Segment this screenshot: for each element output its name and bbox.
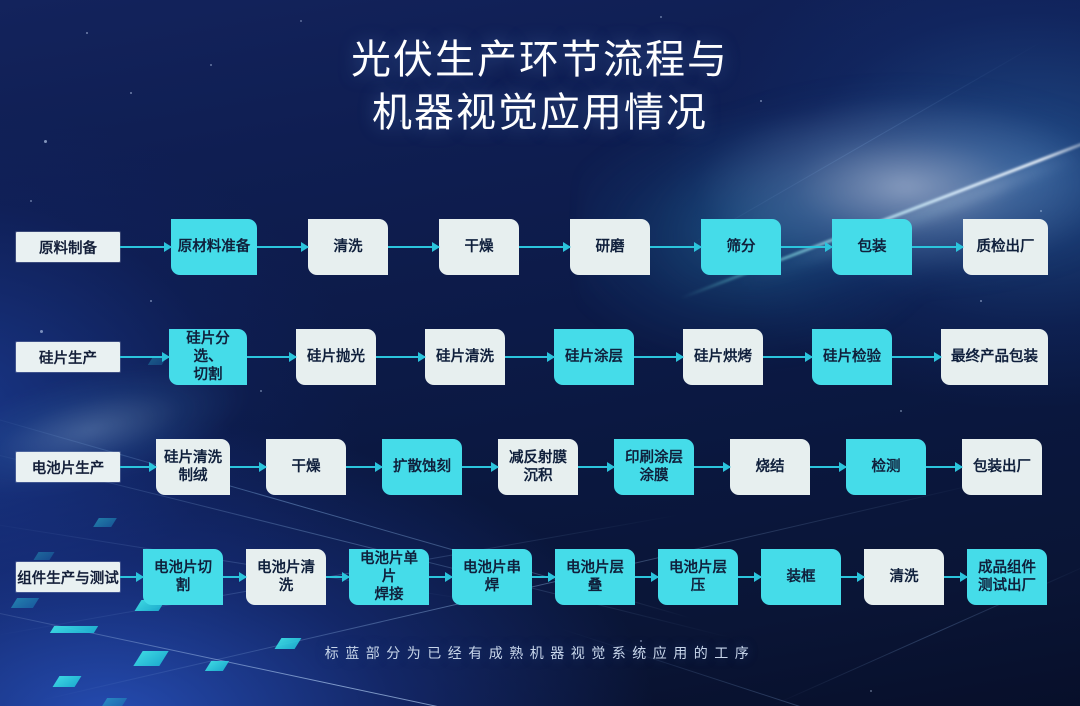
process-node[interactable]: 清洗 [864, 549, 944, 605]
process-node-highlighted[interactable]: 原材料准备 [171, 219, 257, 275]
arrow-head-icon [723, 462, 731, 472]
title-line-1: 光伏生产环节流程与 [0, 34, 1080, 87]
arrow-head-icon [301, 242, 309, 252]
flow-row: 电池片生产硅片清洗 制绒干燥扩散蚀刻减反射膜 沉积印刷涂层 涂膜烧结检测包装出厂 [16, 432, 1042, 502]
arrow-head-icon [607, 462, 615, 472]
arrow-head-icon [491, 462, 499, 472]
arrow-head-icon [857, 572, 865, 582]
page-title: 光伏生产环节流程与 机器视觉应用情况 [0, 34, 1080, 140]
process-node-highlighted[interactable]: 扩散蚀刻 [382, 439, 462, 495]
stage-label[interactable]: 硅片生产 [16, 342, 120, 372]
arrow-head-icon [548, 572, 556, 582]
arrow-head-icon [955, 462, 963, 472]
arrow-head-icon [676, 352, 684, 362]
flow-arrow [230, 462, 266, 472]
arrow-head-icon [418, 352, 426, 362]
process-node-highlighted[interactable]: 电池片层压 [658, 549, 738, 605]
flow-arrow [892, 352, 941, 362]
arrow-head-icon [259, 462, 267, 472]
flow-arrow [519, 242, 570, 252]
arrow-head-icon [164, 242, 172, 252]
flow-arrow [912, 242, 963, 252]
flow-arrow [532, 572, 555, 582]
arrow-head-icon [825, 242, 833, 252]
process-node[interactable]: 清洗 [308, 219, 388, 275]
flow-arrow [223, 572, 246, 582]
flow-arrow [505, 352, 554, 362]
arrow-head-icon [149, 462, 157, 472]
flow-arrow [635, 572, 658, 582]
arrow-head-icon [239, 572, 247, 582]
process-node[interactable]: 硅片清洗 [425, 329, 505, 385]
process-node[interactable]: 质检出厂 [963, 219, 1048, 275]
flow-arrow [247, 352, 296, 362]
flow-arrow [781, 242, 832, 252]
flow-arrow [763, 352, 812, 362]
process-node-highlighted[interactable]: 检测 [846, 439, 926, 495]
process-node[interactable]: 烧结 [730, 439, 810, 495]
process-node-highlighted[interactable]: 硅片检验 [812, 329, 892, 385]
process-node[interactable]: 研磨 [570, 219, 650, 275]
process-node-highlighted[interactable]: 成品组件 测试出厂 [967, 549, 1047, 605]
flow-arrow [120, 242, 171, 252]
process-node[interactable]: 硅片清洗 制绒 [156, 439, 230, 495]
flow-arrow [388, 242, 439, 252]
process-node-highlighted[interactable]: 电池片单片 焊接 [349, 549, 429, 605]
process-node[interactable]: 干燥 [266, 439, 346, 495]
process-node[interactable]: 电池片清洗 [246, 549, 326, 605]
flow-arrow [738, 572, 761, 582]
process-node[interactable]: 硅片抛光 [296, 329, 376, 385]
flow-row: 组件生产与测试电池片切割电池片清洗电池片单片 焊接电池片串焊电池片层叠电池片层压… [16, 542, 1047, 612]
flow-arrow [810, 462, 846, 472]
flow-arrow [462, 462, 498, 472]
process-node-highlighted[interactable]: 电池片层叠 [555, 549, 635, 605]
flow-arrow [694, 462, 730, 472]
process-node[interactable]: 硅片烘烤 [683, 329, 763, 385]
stage-label[interactable]: 原料制备 [16, 232, 120, 262]
flow-arrow [578, 462, 614, 472]
arrow-head-icon [805, 352, 813, 362]
flow-arrow [257, 242, 308, 252]
process-node-highlighted[interactable]: 硅片分选、 切割 [169, 329, 247, 385]
arrow-head-icon [547, 352, 555, 362]
arrow-head-icon [754, 572, 762, 582]
legend-note: 标蓝部分为已经有成熟机器视觉系统应用的工序 [0, 643, 1080, 663]
slide-canvas: 光伏生产环节流程与 机器视觉应用情况 原料制备原材料准备清洗干燥研磨筛分包装质检… [0, 0, 1080, 706]
process-node[interactable]: 最终产品包装 [941, 329, 1048, 385]
flow-arrow [120, 352, 169, 362]
title-line-2: 机器视觉应用情况 [0, 87, 1080, 140]
flow-row: 硅片生产硅片分选、 切割硅片抛光硅片清洗硅片涂层硅片烘烤硅片检验最终产品包装 [16, 322, 1048, 392]
process-node[interactable]: 减反射膜 沉积 [498, 439, 578, 495]
arrow-head-icon [342, 572, 350, 582]
arrow-head-icon [375, 462, 383, 472]
flow-arrow [634, 352, 683, 362]
flow-arrow [926, 462, 962, 472]
arrow-head-icon [432, 242, 440, 252]
flow-arrow [841, 572, 864, 582]
process-node-highlighted[interactable]: 包装 [832, 219, 912, 275]
process-node-highlighted[interactable]: 筛分 [701, 219, 781, 275]
process-node[interactable]: 包装出厂 [962, 439, 1042, 495]
flow-arrow [429, 572, 452, 582]
arrow-head-icon [960, 572, 968, 582]
arrow-head-icon [956, 242, 964, 252]
flow-arrow [376, 352, 425, 362]
flow-arrow [944, 572, 967, 582]
flow-arrow [326, 572, 349, 582]
process-node-highlighted[interactable]: 印刷涂层 涂膜 [614, 439, 694, 495]
arrow-head-icon [694, 242, 702, 252]
arrow-head-icon [445, 572, 453, 582]
arrow-head-icon [934, 352, 942, 362]
arrow-head-icon [839, 462, 847, 472]
flow-arrow [346, 462, 382, 472]
flow-row: 原料制备原材料准备清洗干燥研磨筛分包装质检出厂 [16, 212, 1048, 282]
process-node-highlighted[interactable]: 硅片涂层 [554, 329, 634, 385]
process-node-highlighted[interactable]: 电池片串焊 [452, 549, 532, 605]
stage-label[interactable]: 电池片生产 [16, 452, 120, 482]
process-node[interactable]: 干燥 [439, 219, 519, 275]
process-node-highlighted[interactable]: 装框 [761, 549, 841, 605]
arrow-head-icon [289, 352, 297, 362]
flow-arrow [120, 462, 156, 472]
arrow-head-icon [136, 572, 144, 582]
arrow-head-icon [563, 242, 571, 252]
arrow-head-icon [651, 572, 659, 582]
flow-arrow [120, 572, 143, 582]
arrow-head-icon [162, 352, 170, 362]
process-node-highlighted[interactable]: 电池片切割 [143, 549, 223, 605]
flow-arrow [650, 242, 701, 252]
stage-label[interactable]: 组件生产与测试 [16, 562, 120, 592]
